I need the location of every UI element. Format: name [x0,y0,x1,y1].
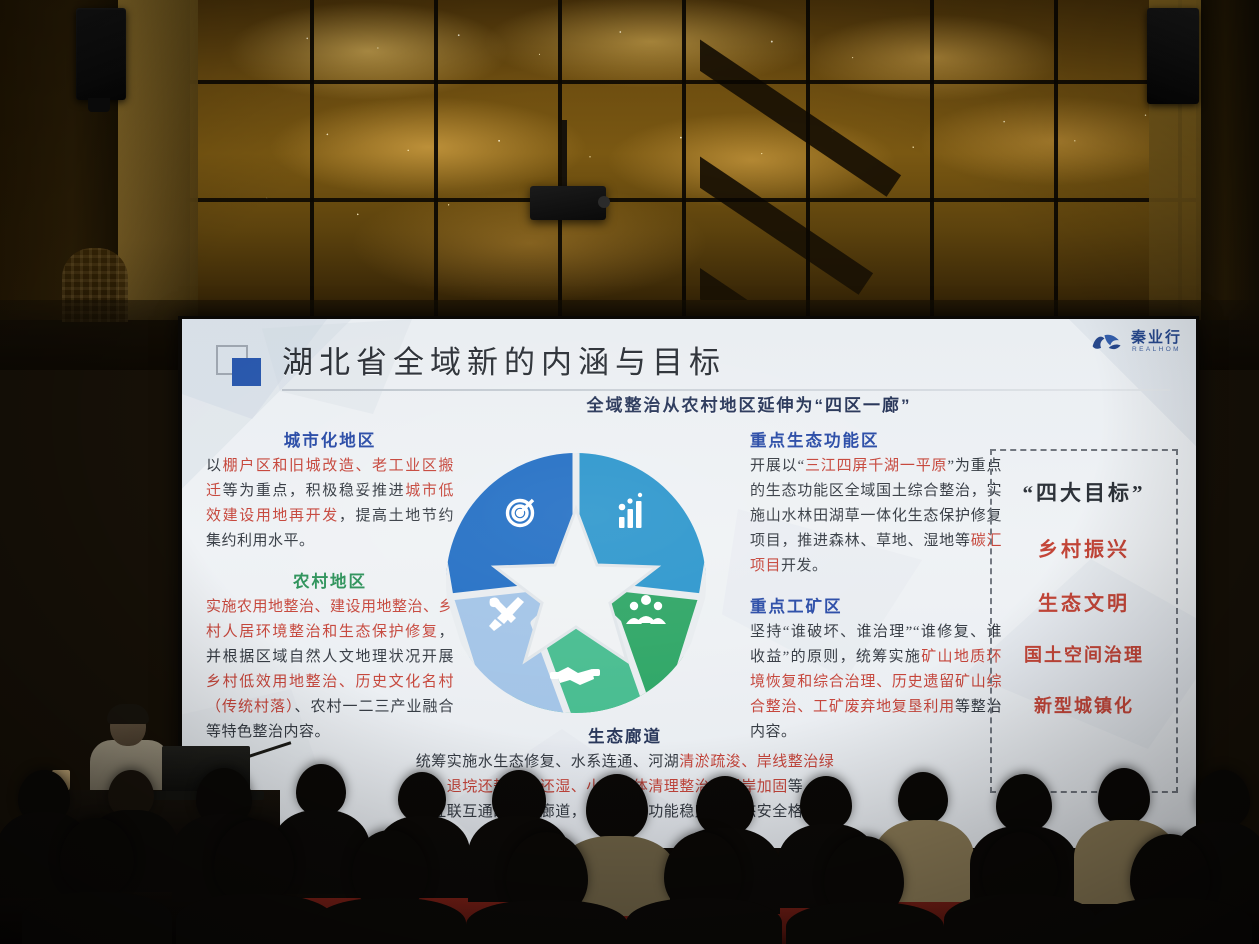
block-heading: 重点工矿区 [750,593,1002,617]
goal-item: 生态文明 [1002,587,1166,616]
bullet-solid-square-icon [232,358,261,386]
body-text: 开展以“ [750,458,805,474]
goal-item: 新型城镇化 [1002,692,1166,718]
page-title: 湖北省全域新的内涵与目标 [282,339,726,387]
title-bullet [216,345,268,385]
block-heading: 生态廊道 [410,723,840,747]
four-goals-panel: “四大目标” 乡村振兴 生态文明 国土空间治理 新型城镇化 [990,449,1178,793]
slide-title-row: 湖北省全域新的内涵与目标 [216,341,1170,395]
projector-mount [562,120,567,190]
block-heading: 城市化地区 [206,427,454,451]
projector-lens-icon [598,196,610,208]
body-text: 以 [206,458,223,474]
wall-speaker-right [1147,8,1199,104]
goal-item: 乡村振兴 [1002,533,1166,562]
block-rural-area: 农村地区 实施农用地整治、建设用地整治、乡村人居环境整治和生态保护修复，并根据区… [206,568,454,745]
right-text-column: 重点生态功能区 开展以“三江四屏千湖一平原”为重点的生态功能区全域国土综合整治，… [750,427,1002,759]
ceiling-projector [530,186,606,220]
highlighted-text: 实施农用地整治、建设用地整治、乡村人居环境整治和生态保护修复 [206,599,454,640]
block-urbanized-area: 城市化地区 以棚户区和旧城改造、老工业区搬迁等为重点，积极稳妥推进城市低效建设用… [206,427,454,554]
left-wall-sheen [118,0,198,320]
block-heading: 重点生态功能区 [750,427,1002,451]
goals-panel-title: “四大目标” [1002,477,1166,507]
block-body: 以棚户区和旧城改造、老工业区搬迁等为重点，积极稳妥推进城市低效建设用地再开发，提… [206,454,454,554]
right-wall [1197,0,1259,320]
audience [0,760,1259,944]
goal-item: 国土空间治理 [1002,641,1166,667]
block-body: 开展以“三江四屏千湖一平原”为重点的生态功能区全域国土综合整治，实施山水林田湖草… [750,454,1002,579]
left-text-column: 城市化地区 以棚户区和旧城改造、老工业区搬迁等为重点，积极稳妥推进城市低效建设用… [206,427,454,759]
body-text: 等为重点，积极稳妥推进 [223,483,406,499]
body-text: 开发。 [781,558,828,574]
block-heading: 农村地区 [206,568,454,592]
screenshot-root: 秦业行 REALHOM 湖北省全域新的内涵与目标 全域整治从农村地区延伸为“四区… [0,0,1259,944]
highlighted-text: 三江四屏千湖一平原 [805,458,948,474]
five-segment-star-diagram [442,447,710,719]
slide-subtitle: 全域整治从农村地区延伸为“四区一廊” [182,391,1196,416]
wall-speaker-left [76,8,126,100]
window-mullion-grid [186,0,1196,320]
block-key-ecological-function-area: 重点生态功能区 开展以“三江四屏千湖一平原”为重点的生态功能区全域国土综合整治，… [750,427,1002,579]
